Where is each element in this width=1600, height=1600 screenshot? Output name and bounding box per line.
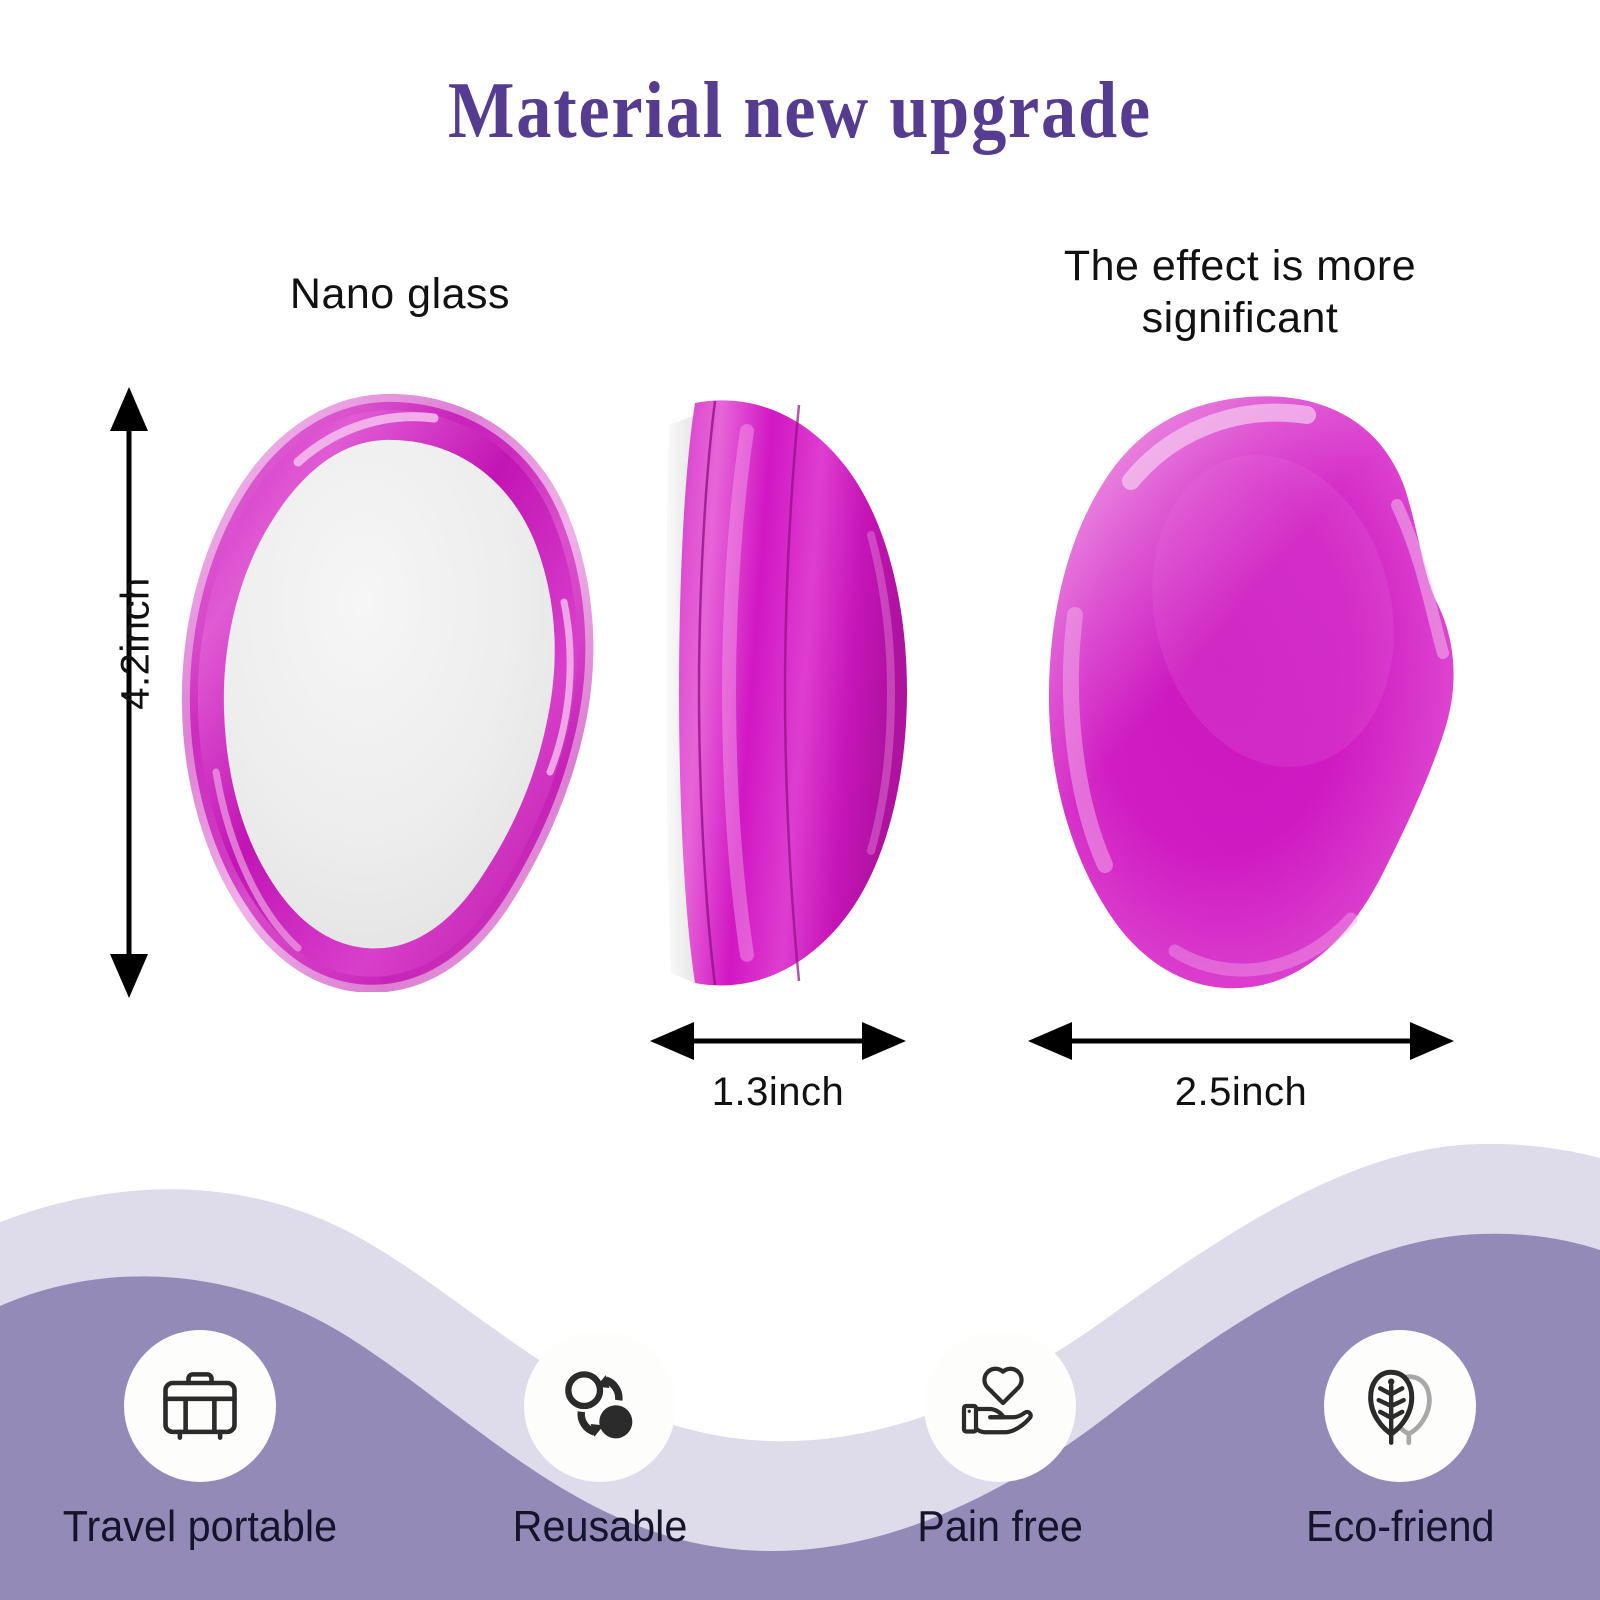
dimension-height-label: 4.2inch	[114, 544, 159, 744]
arrow-head-left	[650, 1022, 694, 1060]
leaf-icon	[1353, 1359, 1447, 1453]
arrow-head-up	[110, 387, 148, 431]
feature-item-reusable[interactable]: Reusable	[400, 1330, 800, 1600]
arrow-head-right	[1410, 1022, 1454, 1060]
arrow-head-right	[862, 1022, 906, 1060]
feature-icon-circle	[124, 1330, 276, 1482]
feature-label: Reusable	[513, 1502, 688, 1552]
arrow-head-down	[110, 954, 148, 998]
briefcase-icon	[154, 1360, 246, 1452]
feature-item-eco-friend[interactable]: Eco-friend	[1200, 1330, 1600, 1600]
feature-item-pain-free[interactable]: Pain free	[800, 1330, 1200, 1600]
feature-icon-circle	[924, 1330, 1076, 1482]
product-side-view	[655, 385, 925, 1000]
feature-list: Travel portable Reusable	[0, 1330, 1600, 1600]
feature-icon-circle	[524, 1330, 676, 1482]
feature-label: Pain free	[917, 1502, 1083, 1552]
feature-label: Eco-friend	[1306, 1502, 1495, 1552]
feature-label: Travel portable	[63, 1502, 337, 1552]
dimension-thickness-label: 1.3inch	[648, 1070, 908, 1115]
dimension-width-label: 2.5inch	[1026, 1070, 1456, 1115]
product-views	[0, 0, 1600, 1140]
hand-heart-icon	[952, 1358, 1048, 1454]
product-back-view	[1035, 385, 1455, 1000]
arrow-head-left	[1028, 1022, 1072, 1060]
infographic-page: Material new upgrade Nano glass The effe…	[0, 0, 1600, 1600]
dimension-height: 4.2inch	[100, 385, 180, 1000]
feature-item-travel-portable[interactable]: Travel portable	[0, 1330, 400, 1600]
recycle-icon	[554, 1360, 646, 1452]
nano-glass-front-view	[178, 392, 598, 992]
feature-icon-circle	[1324, 1330, 1476, 1482]
